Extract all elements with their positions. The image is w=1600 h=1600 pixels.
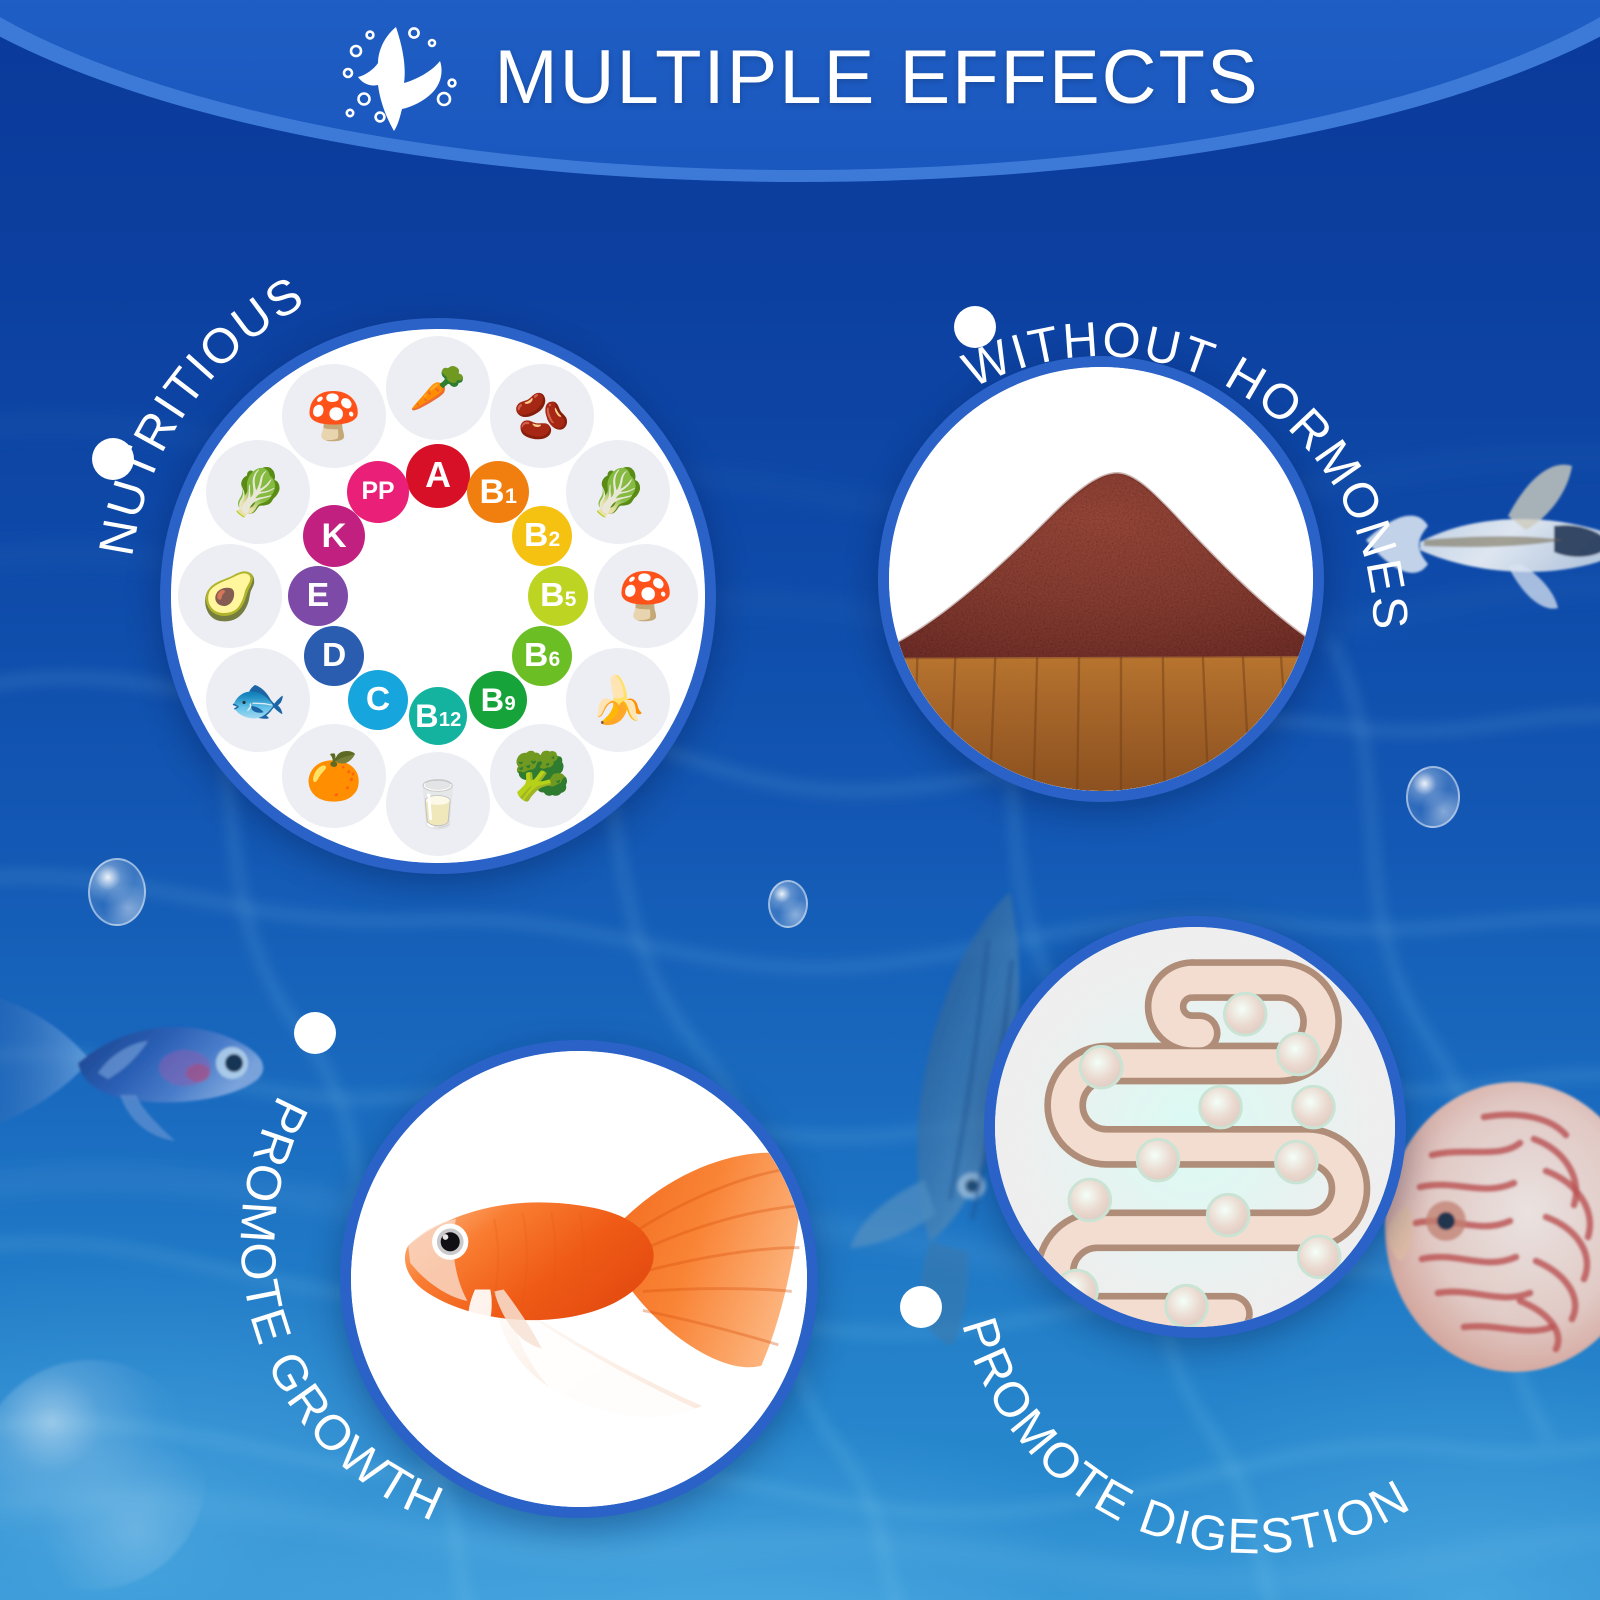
food-icon-fish-cheese: 🐟 <box>206 648 310 752</box>
promote-growth-caption: PROMOTE GROWTH <box>130 1020 690 1600</box>
header-content: MULTIPLE EFFECTS <box>0 18 1600 136</box>
without-hormones-label: WITHOUT HORMONES <box>955 313 1417 633</box>
vitamin-badge-d: D <box>304 626 364 686</box>
promote-growth-label: PROMOTE GROWTH <box>229 1089 452 1532</box>
vitamin-badge-b6: B6 <box>512 626 572 686</box>
promote-digestion-label: PROMOTE DIGESTION <box>951 1311 1419 1564</box>
nutritious-label: NUTRITIOUS <box>89 266 313 560</box>
without-hormones-caption: WITHOUT HORMONES <box>900 276 1460 836</box>
vitamin-badge-b9: B9 <box>469 671 527 729</box>
food-icon-onion-broccoli: 🥦 <box>490 724 594 828</box>
bubble-left-mid <box>88 858 146 926</box>
angelfish-icon <box>340 21 460 133</box>
promote-digestion-caption: PROMOTE DIGESTION <box>900 1020 1520 1540</box>
page-title: MULTIPLE EFFECTS <box>494 34 1259 121</box>
without-hormones-bullet-dot <box>954 306 996 348</box>
food-icon-orange-citrus: 🍊 <box>282 724 386 828</box>
food-icon-strawberry-banana: 🍌 <box>566 648 670 752</box>
bubble-center <box>768 880 808 928</box>
vitamin-badge-c: C <box>348 670 408 730</box>
promote-growth-bullet-dot <box>294 1012 336 1054</box>
nutritious-caption: NUTRITIOUS <box>60 190 820 610</box>
vitamin-badge-b12: B12 <box>409 687 467 745</box>
promote-digestion-bullet-dot <box>900 1286 942 1328</box>
nutritious-bullet-dot <box>92 438 134 480</box>
food-icon-milk-eggs: 🥛 <box>386 752 490 856</box>
